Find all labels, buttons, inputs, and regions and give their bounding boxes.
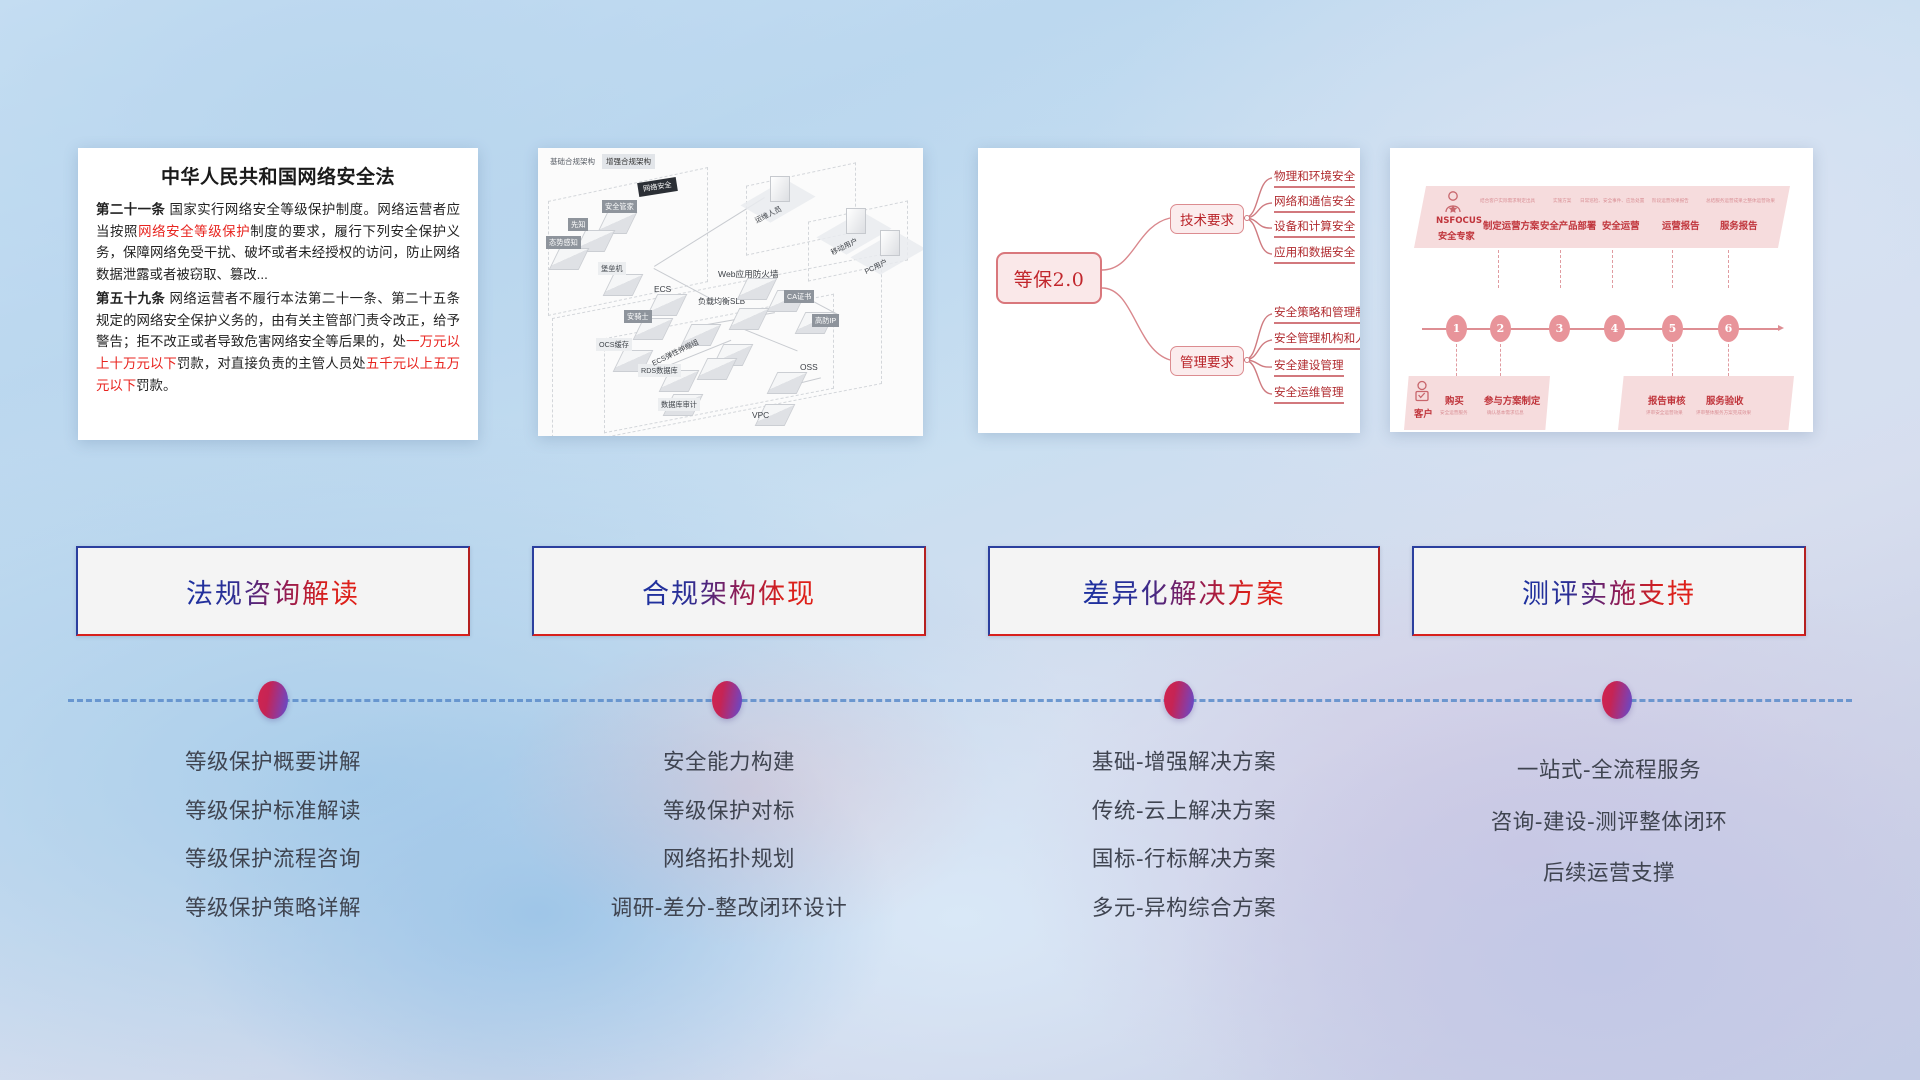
architecture-canvas: 运维人员 移动用户 PC用户 网络安全 安全管家 先知 态势感知 堡垒 [546,166,915,428]
node-label-security-butler: 安全管家 [602,200,637,213]
timeline-dot-3[interactable] [1164,681,1194,719]
article-21-highlight: 网络安全等级保护 [138,224,250,239]
mindmap-branch-technical: 技术要求 [1170,204,1244,234]
roadmap-axis-arrow-icon [1778,325,1784,331]
roadmap-top-title-5: 服务报告 [1720,218,1758,232]
roadmap-bottom-title-2: 参与方案制定 [1484,393,1540,407]
column-list-4: 一站式-全流程服务 咨询-建设-测评整体闭环 后续运营支撑 [1412,760,1806,915]
mindmap-branch-management: 管理要求 [1170,346,1244,376]
roadmap-top-sub-1: 结合客户实际需求制定出具 [1480,198,1535,204]
column-title-box-4[interactable]: 测评实施支持 [1412,546,1806,636]
roadmap-step-5: 5 [1662,315,1683,342]
column-title-box-3[interactable]: 差异化解决方案 [988,546,1380,636]
mindmap-leaf-policy: 安全策略和管理制度 [1274,304,1360,324]
roadmap-top-title-1: 制定运营方案 [1483,218,1539,232]
roadmap-bottom-title-1: 购买 [1445,393,1464,407]
article-21-label: 第二十一条 [96,202,165,217]
column-title-box-1[interactable]: 法规咨询解读 [76,546,470,636]
roadmap-top-sub-5: 总结服务运营成果之整体运营效果 [1706,198,1775,204]
mindmap-leaf-organization: 安全管理机构和人员 [1274,330,1360,350]
node-label-situational-awareness: 态势感知 [546,236,581,249]
list-item: 基础-增强解决方案 [988,752,1380,774]
card-service-roadmap: NSFOCUS 安全专家 结合客户实际需求制定出具 制定运营方案 实施方案 安全… [1390,148,1813,432]
list-item: 一站式-全流程服务 [1412,760,1806,782]
law-article-59: 第五十九条 网络运营者不履行本法第二十一条、第二十五条规定的网络安全保护义务的，… [96,288,460,397]
node-label-bastion-host: 堡垒机 [598,262,626,275]
node-label-ocs-cache: OCS缓存 [596,338,632,351]
roadmap-step-2: 2 [1490,315,1511,342]
expert-label-line1: NSFOCUS [1436,216,1482,226]
roadmap-step-6: 6 [1718,315,1739,342]
node-label-anqishi: 安骑士 [624,310,652,323]
column-title-box-2[interactable]: 合规架构体现 [532,546,926,636]
node-label-xianzhi: 先知 [568,218,588,231]
list-item: 等级保护对标 [532,801,926,823]
roadmap-bottom-title-4: 服务验收 [1706,393,1744,407]
column-list-3: 基础-增强解决方案 传统-云上解决方案 国标-行标解决方案 多元-异构综合方案 [988,752,1380,946]
card-mindmap: 等保2.0 技术要求 物理和环境安全 网络和通信安全 设备和计算安全 应用和数据… [978,148,1360,433]
customer-avatar-icon [1412,380,1432,409]
column-title-4: 测评实施支持 [1522,572,1696,611]
card-cybersecurity-law: 中华人民共和国网络安全法 第二十一条 国家实行网络安全等级保护制度。网络运营者应… [78,148,478,440]
mindmap-leaf-construction: 安全建设管理 [1274,357,1344,377]
roadmap-step-3: 3 [1549,315,1570,342]
node-label-waf: Web应用防火墙 [718,268,778,280]
mindmap-leaf-network: 网络和通信安全 [1274,193,1355,213]
article-59-text-b: 罚款，对直接负责的主管人员处 [177,356,366,371]
roadmap-top-sub-4: 阶段运营效果报告 [1652,198,1689,204]
list-item: 调研-差分-整改闭环设计 [532,898,926,920]
column-title-2: 合规架构体现 [642,572,816,611]
list-item: 等级保护策略详解 [76,898,470,920]
mindmap-collapse-icon-technical[interactable] [1244,215,1250,221]
column-title-3: 差异化解决方案 [1083,572,1286,611]
list-item: 网络拓扑规划 [532,849,926,871]
cards-row: 中华人民共和国网络安全法 第二十一条 国家实行网络安全等级保护制度。网络运营者应… [0,148,1920,443]
roadmap-top-sub-2: 实施方案 [1553,198,1571,204]
roadmap-top-title-2: 安全产品部署 [1540,218,1596,232]
node-label-ecs: ECS [654,284,671,294]
roadmap-bottom-sub-4: 评审整体服务方案完成效果 [1696,410,1751,416]
law-title: 中华人民共和国网络安全法 [96,162,460,189]
roadmap-top-title-3: 安全运营 [1602,218,1640,232]
expert-label-line2: 安全专家 [1438,228,1475,242]
list-item: 等级保护概要讲解 [76,752,470,774]
mindmap-leaf-device: 设备和计算安全 [1274,218,1355,238]
list-item: 国标-行标解决方案 [988,849,1380,871]
law-article-21: 第二十一条 国家实行网络安全等级保护制度。网络运营者应当按照网络安全等级保护制度… [96,199,460,286]
timeline-dashed-line [68,699,1852,702]
list-item: 咨询-建设-测评整体闭环 [1412,812,1806,834]
list-item: 等级保护标准解读 [76,801,470,823]
column-title-1: 法规咨询解读 [186,572,360,611]
roadmap-step-1: 1 [1446,315,1467,342]
list-item: 多元-异构综合方案 [988,898,1380,920]
node-label-anti-ddos-ip: 高防IP [812,314,839,327]
card-cloud-architecture: 基础合规架构 增强合规架构 [538,148,923,436]
customer-label: 客户 [1414,406,1433,420]
roadmap-bottom-sub-2: 确认基本需求信息 [1487,410,1524,416]
roadmap-bottom-sub-1: 安全运营服务 [1440,410,1468,416]
article-59-label: 第五十九条 [96,291,165,306]
node-label-vpc: VPC [752,410,769,420]
node-label-ca-cert: CA证书 [784,290,814,303]
list-item: 安全能力构建 [532,752,926,774]
node-label-oss: OSS [800,362,818,372]
column-list-2: 安全能力构建 等级保护对标 网络拓扑规划 调研-差分-整改闭环设计 [532,752,926,946]
list-item: 后续运营支撑 [1412,863,1806,885]
article-59-text-c: 罚款。 [136,378,176,393]
roadmap-top-title-4: 运营报告 [1662,218,1700,232]
timeline-dot-2[interactable] [712,681,742,719]
node-label-db-audit: 数据库审计 [658,398,700,411]
list-item: 传统-云上解决方案 [988,801,1380,823]
mindmap-collapse-icon-management[interactable] [1244,357,1250,363]
list-item: 等级保护流程咨询 [76,849,470,871]
timeline-dot-1[interactable] [258,681,288,719]
mindmap-root: 等保2.0 [996,252,1102,304]
roadmap-bottom-sub-3: 评审安全运营效果 [1646,410,1683,416]
roadmap-top-sub-3: 日常巡检、安全事件、应急处置 [1580,198,1644,204]
roadmap-bottom-title-3: 报告审核 [1648,393,1686,407]
mindmap-leaf-application: 应用和数据安全 [1274,244,1355,264]
timeline-dot-4[interactable] [1602,681,1632,719]
column-list-1: 等级保护概要讲解 等级保护标准解读 等级保护流程咨询 等级保护策略详解 [76,752,470,946]
mindmap-leaf-operation: 安全运维管理 [1274,384,1344,404]
roadmap-step-4: 4 [1604,315,1625,342]
mindmap-leaf-physical: 物理和环境安全 [1274,168,1355,188]
expert-avatar-icon [1442,190,1464,219]
